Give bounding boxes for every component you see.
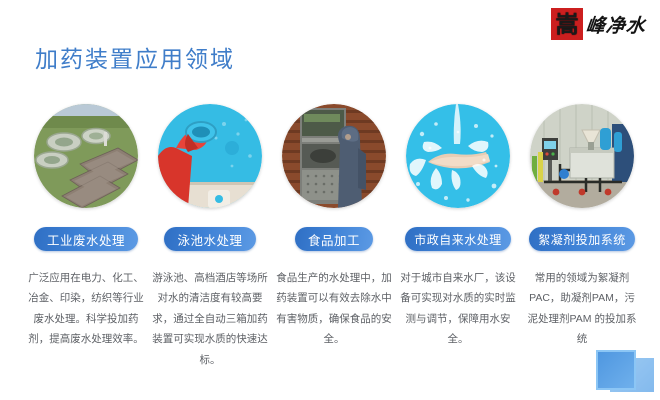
wastewater-treatment-plant-aerial-photo (34, 104, 138, 208)
field-description: 游泳池、高档酒店等场所对水的清洁度有较高要求，通过全自动三箱加药装置可实现水质的… (152, 268, 268, 370)
list-item: 食品加工 食品生产的水处理中，加药装置可以有效去除水中有害物质，确保食品的安全。 (276, 104, 392, 370)
field-description: 食品生产的水处理中，加药装置可以有效去除水中有害物质，确保食品的安全。 (276, 268, 392, 350)
chemical-dosing-system-equipment-photo (530, 104, 634, 208)
field-label-flocculant-dosing-system[interactable]: 絮凝剂投加系统 (529, 227, 635, 251)
deco-square-front (596, 350, 636, 390)
seal-icon: 嵩 (551, 8, 583, 40)
brand-name: 峰净水 (585, 11, 648, 38)
list-item: 泳池水处理 游泳池、高档酒店等场所对水的清洁度有较高要求，通过全自动三箱加药装置… (152, 104, 268, 370)
field-description: 常用的领域为絮凝剂PAC，助凝剂PAM，污泥处理剂PAM 的投加系统 (524, 268, 640, 350)
blue-double-square-graphic (592, 350, 654, 396)
swimming-pool-gloved-hand-dosing-photo (158, 104, 262, 208)
field-label-industrial-wastewater[interactable]: 工业废水处理 (34, 227, 138, 251)
food-processing-worker-photo (282, 104, 386, 208)
application-fields-list: 工业废水处理 广泛应用在电力、化工、冶金、印染，纺织等行业废水处理。科学投加药剂… (28, 104, 640, 370)
list-item: 工业废水处理 广泛应用在电力、化工、冶金、印染，纺织等行业废水处理。科学投加药剂… (28, 104, 144, 370)
field-label-pool-water[interactable]: 泳池水处理 (164, 227, 255, 251)
field-description: 广泛应用在电力、化工、冶金、印染，纺织等行业废水处理。科学投加药剂，提高废水处理… (28, 268, 144, 350)
field-label-food-processing[interactable]: 食品加工 (295, 227, 373, 251)
hand-catching-clean-water-splash-photo (406, 104, 510, 208)
list-item: 絮凝剂投加系统 常用的领域为絮凝剂PAC，助凝剂PAM，污泥处理剂PAM 的投加… (524, 104, 640, 370)
brand-logo: 嵩 峰净水 (551, 8, 646, 40)
page-title: 加药装置应用领域 (35, 40, 235, 74)
field-description: 对于城市自来水厂，该设备可实现对水质的实时监测与调节，保障用水安全。 (400, 268, 516, 350)
list-item: 市政自来水处理 对于城市自来水厂，该设备可实现对水质的实时监测与调节，保障用水安… (400, 104, 516, 370)
field-label-municipal-tap-water[interactable]: 市政自来水处理 (405, 227, 511, 251)
